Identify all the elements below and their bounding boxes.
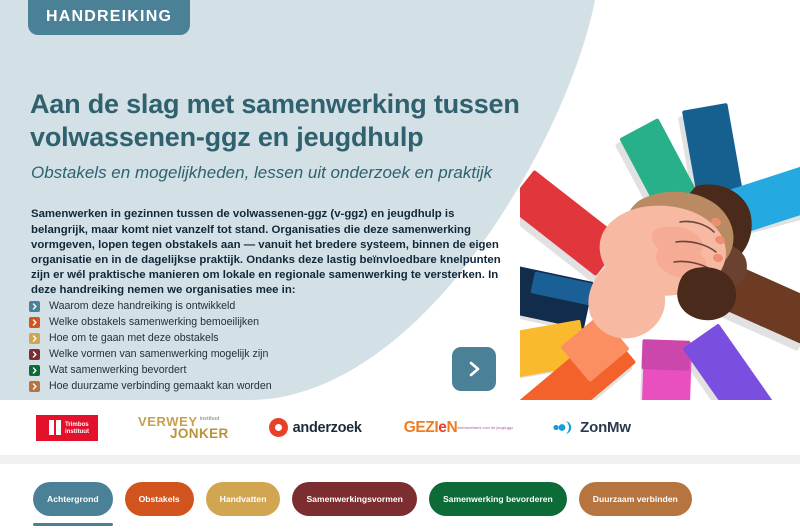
tab-button[interactable]: Samenwerking bevorderen bbox=[429, 482, 567, 516]
list-item[interactable]: Welke vormen van samenwerking mogelijk z… bbox=[29, 347, 479, 362]
list-item-label: Hoe duurzame verbinding gemaakt kan word… bbox=[49, 380, 272, 392]
tab-active-indicator bbox=[429, 523, 567, 526]
jonker-text: JONKER bbox=[170, 427, 229, 441]
tab-button[interactable]: Duurzaam verbinden bbox=[579, 482, 692, 516]
tab-active-indicator bbox=[292, 523, 416, 526]
chevron-right-icon bbox=[29, 301, 40, 312]
zonmw-logo: ZonMw bbox=[553, 411, 631, 445]
tab-duurzaam-verbinden[interactable]: Duurzaam verbinden bbox=[579, 482, 692, 526]
tab-button[interactable]: Samenwerkingsvormen bbox=[292, 482, 416, 516]
tab-active-indicator bbox=[125, 523, 194, 526]
tab-obstakels[interactable]: Obstakels bbox=[125, 482, 194, 526]
chevron-right-icon bbox=[464, 359, 484, 379]
trimbos-bars-icon bbox=[49, 420, 61, 435]
section-divider bbox=[0, 455, 800, 464]
verwey-jonker-instituut-logo: VERWEYinstituut JONKER bbox=[138, 411, 229, 445]
list-item[interactable]: Welke obstakels samenwerking bemoeilijke… bbox=[29, 315, 479, 330]
tab-active-indicator bbox=[33, 523, 113, 526]
next-button[interactable] bbox=[452, 347, 496, 391]
list-item-label: Hoe om te gaan met deze obstakels bbox=[49, 332, 219, 344]
tab-active-indicator bbox=[579, 523, 692, 526]
list-item-label: Wat samenwerking bevordert bbox=[49, 364, 186, 376]
hero-section: HANDREIKING Aan de slag met samenwerking… bbox=[0, 0, 800, 400]
anderzoek-text: anderzoek bbox=[293, 420, 362, 436]
tab-achtergrond[interactable]: Achtergrond bbox=[33, 482, 113, 526]
tab-handvatten[interactable]: Handvatten bbox=[206, 482, 281, 526]
list-item-label: Welke vormen van samenwerking mogelijk z… bbox=[49, 348, 268, 360]
tab-button[interactable]: Achtergrond bbox=[33, 482, 113, 516]
tab-button[interactable]: Obstakels bbox=[125, 482, 194, 516]
list-item[interactable]: Hoe om te gaan met deze obstakels bbox=[29, 331, 479, 346]
anderzoek-mark-icon bbox=[269, 418, 288, 437]
topic-list: Waarom deze handreiking is ontwikkeldWel… bbox=[29, 299, 479, 395]
zonmw-text: ZonMw bbox=[580, 419, 631, 436]
page-subtitle: Obstakels en mogelijkheden, lessen uit o… bbox=[31, 163, 576, 183]
chevron-right-icon bbox=[29, 365, 40, 376]
tab-samenwerkingsvormen[interactable]: Samenwerkingsvormen bbox=[292, 482, 416, 526]
list-item[interactable]: Hoe duurzame verbinding gemaakt kan word… bbox=[29, 379, 479, 394]
partner-logo-strip: Trimbosinstituut VERWEYinstituut JONKER … bbox=[0, 400, 800, 455]
trimbos-instituut-logo: Trimbosinstituut bbox=[36, 415, 98, 441]
gezien-logo: GEZIeN kennisnetwerk voor de jeugd-ggz bbox=[404, 411, 513, 445]
list-item-label: Welke obstakels samenwerking bemoeilijke… bbox=[49, 316, 259, 328]
intro-paragraph: Samenwerken in gezinnen tussen de volwas… bbox=[31, 207, 501, 298]
tab-samenwerking-bevorderen[interactable]: Samenwerking bevorderen bbox=[429, 482, 567, 526]
tab-active-indicator bbox=[206, 523, 281, 526]
chevron-right-icon bbox=[29, 349, 40, 360]
chevron-right-icon bbox=[29, 381, 40, 392]
list-item[interactable]: Wat samenwerking bevordert bbox=[29, 363, 479, 378]
tab-list: AchtergrondObstakelsHandvattenSamenwerki… bbox=[33, 482, 692, 526]
chevron-right-icon bbox=[29, 317, 40, 328]
zonmw-mark-icon bbox=[553, 420, 575, 435]
handreiking-badge: HANDREIKING bbox=[28, 0, 190, 35]
page-root: HANDREIKING Aan de slag met samenwerking… bbox=[0, 0, 800, 530]
section-tabbar: AchtergrondObstakelsHandvattenSamenwerki… bbox=[0, 464, 800, 530]
gezien-text: GEZIeN bbox=[404, 420, 458, 436]
list-item[interactable]: Waarom deze handreiking is ontwikkeld bbox=[29, 299, 479, 314]
anderzoek-logo: anderzoek bbox=[269, 411, 362, 445]
list-item-label: Waarom deze handreiking is ontwikkeld bbox=[49, 300, 235, 312]
hands-together-illustration bbox=[520, 0, 800, 400]
trimbos-logo-text: Trimbosinstituut bbox=[65, 421, 89, 435]
page-title: Aan de slag met samenwerking tussen volw… bbox=[30, 88, 575, 154]
tab-button[interactable]: Handvatten bbox=[206, 482, 281, 516]
verwey-instituut-text: instituut bbox=[200, 417, 220, 422]
gezien-tagline: kennisnetwerk voor de jeugd-ggz bbox=[457, 427, 513, 431]
chevron-right-icon bbox=[29, 333, 40, 344]
